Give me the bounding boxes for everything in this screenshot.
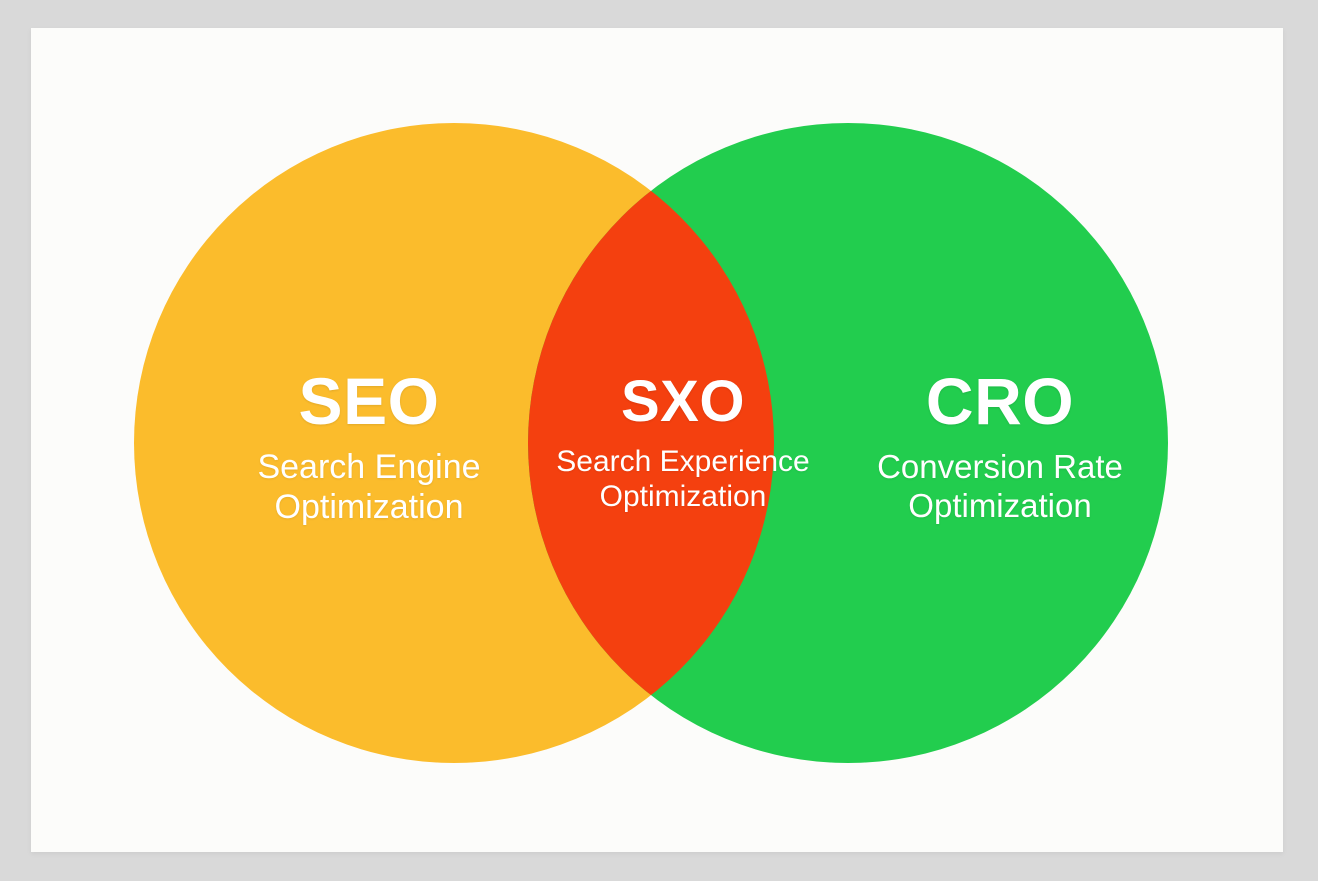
venn-subtitle-sxo: Search Experience Optimization <box>552 444 814 514</box>
venn-subtitle-seo-line1: Search Engine <box>163 448 575 488</box>
venn-diagram: SEO Search Engine Optimization SXO Searc… <box>31 28 1283 852</box>
venn-label-cro: CRO Conversion Rate Optimization <box>794 368 1206 525</box>
venn-title-seo: SEO <box>163 368 575 434</box>
diagram-canvas-panel: SEO Search Engine Optimization SXO Searc… <box>31 28 1283 852</box>
diagram-frame: SEO Search Engine Optimization SXO Searc… <box>0 0 1318 881</box>
venn-subtitle-seo-line2: Optimization <box>163 488 575 528</box>
venn-subtitle-sxo-line2: Optimization <box>552 479 814 514</box>
venn-label-sxo: SXO Search Experience Optimization <box>552 373 814 514</box>
venn-title-sxo: SXO <box>552 373 814 431</box>
venn-subtitle-cro-line1: Conversion Rate <box>794 448 1206 487</box>
venn-label-seo: SEO Search Engine Optimization <box>163 368 575 528</box>
venn-subtitle-sxo-line1: Search Experience <box>552 444 814 479</box>
venn-subtitle-seo: Search Engine Optimization <box>163 448 575 528</box>
venn-subtitle-cro-line2: Optimization <box>794 487 1206 526</box>
venn-title-cro: CRO <box>794 368 1206 434</box>
venn-subtitle-cro: Conversion Rate Optimization <box>794 448 1206 525</box>
